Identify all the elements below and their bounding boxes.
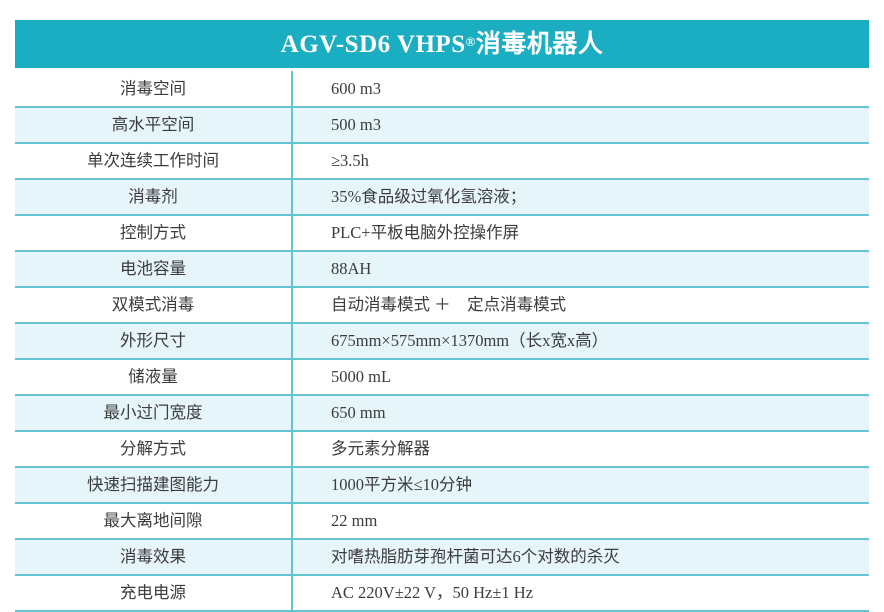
spec-value: PLC+平板电脑外控操作屏: [292, 215, 869, 251]
spec-label: 最小过门宽度: [15, 395, 292, 431]
table-row: 快速扫描建图能力 1000平方米≤10分钟: [15, 467, 869, 503]
spec-value: 500 m3: [292, 107, 869, 143]
spec-label: 外形尺寸: [15, 323, 292, 359]
spec-label: 储液量: [15, 359, 292, 395]
spec-value: 675mm×575mm×1370mm（长x宽x高）: [292, 323, 869, 359]
spec-value: 22 mm: [292, 503, 869, 539]
table-row: 单次连续工作时间 ≥3.5h: [15, 143, 869, 179]
spec-value: 88AH: [292, 251, 869, 287]
table-row: 消毒空间 600 m3: [15, 72, 869, 108]
spec-value: 5000 mL: [292, 359, 869, 395]
spec-label: 控制方式: [15, 215, 292, 251]
table-row: 电池容量 88AH: [15, 251, 869, 287]
spec-value: 对嗜热脂肪芽孢杆菌可达6个对数的杀灭: [292, 539, 869, 575]
table-row: 充电电源 AC 220V±22 V，50 Hz±1 Hz: [15, 575, 869, 611]
spec-value: 多元素分解器: [292, 431, 869, 467]
page-title-main: AGV-SD6 VHPS: [281, 31, 466, 58]
spec-label: 消毒效果: [15, 539, 292, 575]
spec-label: 最大离地间隙: [15, 503, 292, 539]
spec-label: 充电电源: [15, 575, 292, 611]
spec-label: 消毒空间: [15, 72, 292, 108]
spec-value: 35%食品级过氧化氢溶液；: [292, 179, 869, 215]
table-row: 最小过门宽度 650 mm: [15, 395, 869, 431]
spec-label: 单次连续工作时间: [15, 143, 292, 179]
page-title-suffix: 消毒机器人: [476, 31, 604, 58]
spec-label: 消毒剂: [15, 179, 292, 215]
table-row: 储液量 5000 mL: [15, 359, 869, 395]
specifications-table: 消毒空间 600 m3 高水平空间 500 m3 单次连续工作时间 ≥3.5h …: [15, 71, 869, 612]
table-row: 最大离地间隙 22 mm: [15, 503, 869, 539]
spec-label: 高水平空间: [15, 107, 292, 143]
table-row: 外形尺寸 675mm×575mm×1370mm（长x宽x高）: [15, 323, 869, 359]
table-row: 消毒剂 35%食品级过氧化氢溶液；: [15, 179, 869, 215]
product-title-band: AGV-SD6 VHPS®消毒机器人: [15, 20, 869, 68]
spec-value: 600 m3: [292, 72, 869, 108]
table-row: 控制方式 PLC+平板电脑外控操作屏: [15, 215, 869, 251]
spec-label: 分解方式: [15, 431, 292, 467]
spec-label: 快速扫描建图能力: [15, 467, 292, 503]
spec-value: 650 mm: [292, 395, 869, 431]
table-row: 高水平空间 500 m3: [15, 107, 869, 143]
page-title: AGV-SD6 VHPS®消毒机器人: [281, 32, 604, 57]
registered-trademark-icon: ®: [466, 34, 476, 49]
specifications-table-body: 消毒空间 600 m3 高水平空间 500 m3 单次连续工作时间 ≥3.5h …: [15, 72, 869, 612]
table-row: 双模式消毒 自动消毒模式 ＋ 定点消毒模式: [15, 287, 869, 323]
spec-value: 自动消毒模式 ＋ 定点消毒模式: [292, 287, 869, 323]
spec-value: 1000平方米≤10分钟: [292, 467, 869, 503]
spec-value: ≥3.5h: [292, 143, 869, 179]
spec-label: 双模式消毒: [15, 287, 292, 323]
spec-value: AC 220V±22 V，50 Hz±1 Hz: [292, 575, 869, 611]
spec-label: 电池容量: [15, 251, 292, 287]
spec-sheet: AGV-SD6 VHPS®消毒机器人 消毒空间 600 m3 高水平空间 500…: [0, 0, 884, 601]
table-row: 消毒效果 对嗜热脂肪芽孢杆菌可达6个对数的杀灭: [15, 539, 869, 575]
table-row: 分解方式 多元素分解器: [15, 431, 869, 467]
